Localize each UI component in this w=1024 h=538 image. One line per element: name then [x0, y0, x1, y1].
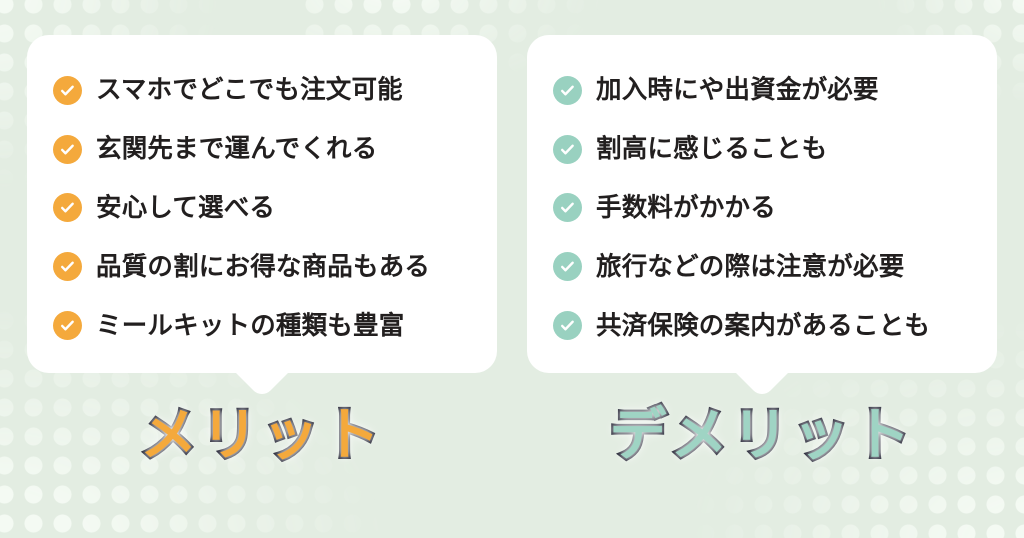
comparison-infographic: スマホでどこでも注文可能 玄関先まで運んでくれる 安心して選べる 品質の割にお得…: [0, 0, 1024, 538]
list-item-label: 品質の割にお得な商品もある: [96, 252, 430, 282]
list-item-label: 加入時にや出資金が必要: [596, 75, 879, 105]
list-item: 旅行などの際は注意が必要: [549, 252, 975, 282]
list-item: 玄関先まで運んでくれる: [49, 134, 475, 164]
check-circle-icon: [53, 311, 82, 340]
list-item: 加入時にや出資金が必要: [549, 75, 975, 105]
check-circle-icon: [53, 252, 82, 281]
list-item-label: ミールキットの種類も豊富: [96, 311, 404, 341]
check-circle-icon: [53, 135, 82, 164]
list-item-label: 旅行などの際は注意が必要: [596, 252, 904, 282]
list-item: 安心して選べる: [49, 193, 475, 223]
check-circle-icon: [553, 311, 582, 340]
list-item-label: スマホでどこでも注文可能: [96, 75, 403, 105]
list-item: 割高に感じることも: [549, 134, 975, 164]
list-item-label: 玄関先まで運んでくれる: [96, 134, 377, 164]
list-item-label: 手数料がかかる: [596, 193, 776, 223]
merit-card: スマホでどこでも注文可能 玄関先まで運んでくれる 安心して選べる 品質の割にお得…: [27, 35, 497, 373]
merit-column: スマホでどこでも注文可能 玄関先まで運んでくれる 安心して選べる 品質の割にお得…: [27, 35, 497, 464]
list-item: 品質の割にお得な商品もある: [49, 252, 475, 282]
demerit-label: デメリット: [527, 407, 997, 464]
check-circle-icon: [553, 252, 582, 281]
check-circle-icon: [53, 193, 82, 222]
list-item: 共済保険の案内があることも: [549, 311, 975, 341]
list-item: 手数料がかかる: [549, 193, 975, 223]
list-item-label: 安心して選べる: [96, 193, 275, 223]
demerit-column: 加入時にや出資金が必要 割高に感じることも 手数料がかかる 旅行などの際は注意が…: [527, 35, 997, 464]
merit-label: メリット: [27, 407, 497, 464]
check-circle-icon: [553, 76, 582, 105]
check-circle-icon: [553, 135, 582, 164]
list-item: ミールキットの種類も豊富: [49, 311, 475, 341]
check-circle-icon: [553, 193, 582, 222]
list-item-label: 割高に感じることも: [596, 134, 827, 164]
demerit-card: 加入時にや出資金が必要 割高に感じることも 手数料がかかる 旅行などの際は注意が…: [527, 35, 997, 373]
list-item-label: 共済保険の案内があることも: [596, 311, 930, 341]
check-circle-icon: [53, 76, 82, 105]
list-item: スマホでどこでも注文可能: [49, 75, 475, 105]
